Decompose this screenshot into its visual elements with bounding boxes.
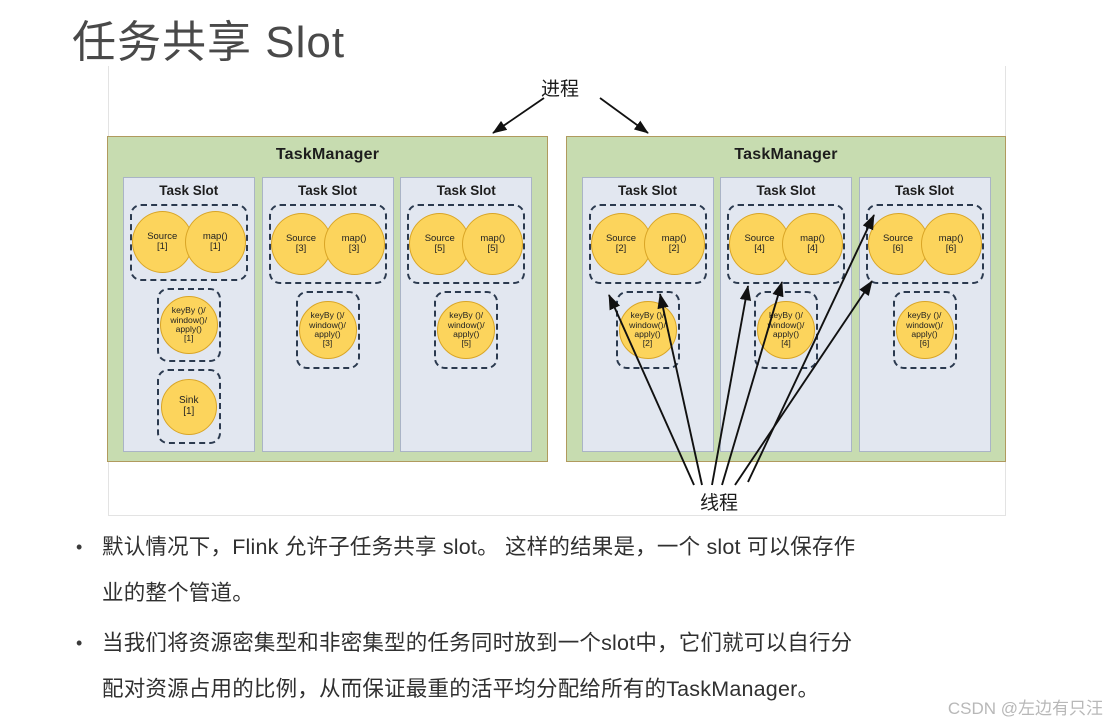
operator-circle-keyby: keyBy ()/ window()/ apply() [2]	[619, 301, 677, 359]
operator-circle-source: Source [3]	[271, 213, 332, 275]
bullet-line: 业的整个管道。	[102, 570, 855, 616]
task-slot-title: Task Slot	[298, 183, 357, 198]
bullet-line: 配对资源占用的比例，从而保证最重的活平均分配给所有的TaskManager。	[102, 666, 852, 712]
taskmanager-box-1: TaskManager Task Slot Source [1] map() […	[107, 136, 548, 462]
bullet-marker: •	[70, 524, 102, 570]
operator-group-keyby: keyBy ()/ window()/ apply() [2]	[616, 291, 680, 369]
operator-chain-group: Source [6] map() [6]	[866, 204, 984, 284]
operator-group-keyby: keyBy ()/ window()/ apply() [4]	[754, 291, 818, 369]
bullet-item-1: • 默认情况下，Flink 允许子任务共享 slot。 这样的结果是，一个 sl…	[70, 524, 1090, 616]
operator-index: [4]	[781, 339, 791, 348]
operator-index: [4]	[807, 244, 818, 254]
slots-row: Task Slot Source [2] map() [2] keyBy ()/…	[567, 177, 1005, 452]
operator-chain-group: Source [4] map() [4]	[727, 204, 845, 284]
operator-index: [3]	[323, 339, 333, 348]
operator-group-keyby: keyBy ()/ window()/ apply() [1]	[157, 288, 221, 363]
operator-circle-keyby: keyBy ()/ window()/ apply() [3]	[299, 301, 357, 359]
operator-circle-map: map() [1]	[185, 211, 246, 273]
operator-circle-source: Source [4]	[729, 213, 790, 275]
operator-chain-group: Source [1] map() [1]	[130, 204, 248, 281]
operator-index: [3]	[296, 244, 307, 254]
operator-chain-group: Source [2] map() [2]	[589, 204, 707, 284]
bullet-item-2: • 当我们将资源密集型和非密集型的任务同时放到一个slot中，它们就可以自行分 …	[70, 620, 1090, 712]
bullet-line: 当我们将资源密集型和非密集型的任务同时放到一个slot中，它们就可以自行分	[102, 620, 852, 666]
task-slot-title: Task Slot	[756, 183, 815, 198]
operator-circle-sink: Sink [1]	[161, 379, 217, 435]
thread-label: 线程	[700, 488, 738, 515]
bullet-line: 默认情况下，Flink 允许子任务共享 slot。 这样的结果是，一个 slot…	[102, 524, 855, 570]
taskmanager-box-2: TaskManager Task Slot Source [2] map() […	[566, 136, 1006, 462]
operator-circle-keyby: keyBy ()/ window()/ apply() [1]	[160, 296, 218, 354]
operator-circle-source: Source [2]	[591, 213, 652, 275]
operator-circle-keyby: keyBy ()/ window()/ apply() [4]	[757, 301, 815, 359]
task-slot-2[interactable]: Task Slot Source [3] map() [3] keyBy ()/…	[262, 177, 394, 452]
task-slot-title: Task Slot	[895, 183, 954, 198]
operator-index: [1]	[184, 334, 194, 343]
bullet-body: 当我们将资源密集型和非密集型的任务同时放到一个slot中，它们就可以自行分 配对…	[102, 620, 852, 712]
operator-index: [2]	[643, 339, 653, 348]
task-slot-4[interactable]: Task Slot Source [2] map() [2] keyBy ()/…	[582, 177, 714, 452]
operator-circle-source: Source [5]	[409, 213, 470, 275]
watermark: CSDN @左边有只汪	[948, 694, 1103, 719]
task-slot-title: Task Slot	[618, 183, 677, 198]
taskmanager-title: TaskManager	[108, 146, 547, 164]
operator-chain-group: Source [3] map() [3]	[269, 204, 387, 284]
operator-index: [2]	[616, 244, 627, 254]
operator-group-keyby: keyBy ()/ window()/ apply() [3]	[296, 291, 360, 369]
operator-circle-map: map() [3]	[324, 213, 385, 275]
operator-group-keyby: keyBy ()/ window()/ apply() [6]	[893, 291, 957, 369]
task-slot-6[interactable]: Task Slot Source [6] map() [6] keyBy ()/…	[859, 177, 991, 452]
task-slot-title: Task Slot	[159, 183, 218, 198]
operator-circle-keyby: keyBy ()/ window()/ apply() [6]	[896, 301, 954, 359]
operator-group-sink: Sink [1]	[157, 369, 221, 444]
task-slot-1[interactable]: Task Slot Source [1] map() [1] keyBy ()/…	[123, 177, 255, 452]
operator-index: [5]	[461, 339, 471, 348]
taskmanager-title: TaskManager	[567, 146, 1005, 164]
task-slot-title: Task Slot	[437, 183, 496, 198]
page-title: 任务共享 Slot	[72, 6, 345, 70]
operator-index: [3]	[349, 244, 360, 254]
operator-circle-map: map() [4]	[782, 213, 843, 275]
operator-index: [5]	[487, 244, 498, 254]
bullet-body: 默认情况下，Flink 允许子任务共享 slot。 这样的结果是，一个 slot…	[102, 524, 855, 616]
operator-index: [6]	[893, 244, 904, 254]
operator-index: [1]	[157, 242, 168, 252]
operator-index: [2]	[669, 244, 680, 254]
operator-circle-map: map() [5]	[462, 213, 523, 275]
process-label: 进程	[541, 74, 579, 101]
slots-row: Task Slot Source [1] map() [1] keyBy ()/…	[108, 177, 547, 452]
operator-index: [6]	[920, 339, 930, 348]
bullet-list: • 默认情况下，Flink 允许子任务共享 slot。 这样的结果是，一个 sl…	[70, 524, 1090, 716]
operator-circle-keyby: keyBy ()/ window()/ apply() [5]	[437, 301, 495, 359]
operator-index: [4]	[754, 244, 765, 254]
operator-index: [6]	[946, 244, 957, 254]
operator-index: [5]	[434, 244, 445, 254]
operator-group-keyby: keyBy ()/ window()/ apply() [5]	[434, 291, 498, 369]
task-slot-5[interactable]: Task Slot Source [4] map() [4] keyBy ()/…	[720, 177, 852, 452]
operator-index: [1]	[183, 407, 194, 418]
operator-index: [1]	[210, 242, 221, 252]
operator-circle-source: Source [6]	[868, 213, 929, 275]
operator-circle-map: map() [6]	[921, 213, 982, 275]
bullet-marker: •	[70, 620, 102, 666]
operator-circle-source: Source [1]	[132, 211, 193, 273]
task-slot-3[interactable]: Task Slot Source [5] map() [5] keyBy ()/…	[400, 177, 532, 452]
operator-circle-map: map() [2]	[644, 213, 705, 275]
operator-chain-group: Source [5] map() [5]	[407, 204, 525, 284]
